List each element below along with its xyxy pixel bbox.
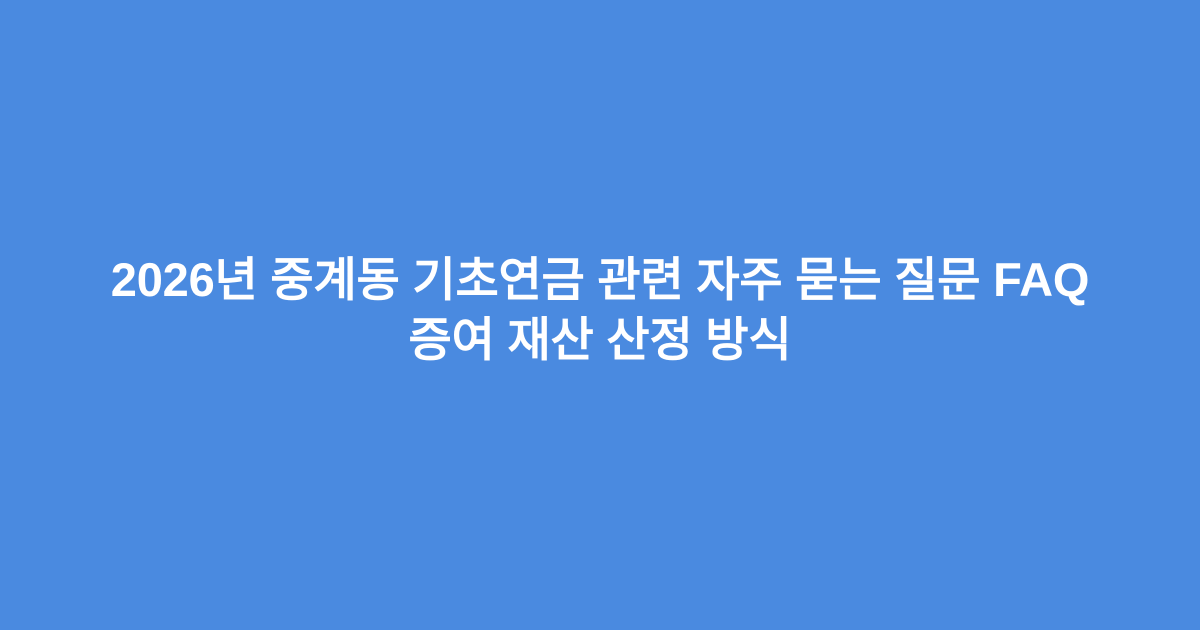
title-line-2: 증여 재산 산정 방식	[20, 310, 1180, 370]
title-card: 2026년 중계동 기초연금 관련 자주 묻는 질문 FAQ 증여 재산 산정 …	[0, 0, 1200, 630]
title-line-1: 2026년 중계동 기초연금 관련 자주 묻는 질문 FAQ	[20, 250, 1180, 310]
page-title: 2026년 중계동 기초연금 관련 자주 묻는 질문 FAQ 증여 재산 산정 …	[0, 0, 1200, 630]
